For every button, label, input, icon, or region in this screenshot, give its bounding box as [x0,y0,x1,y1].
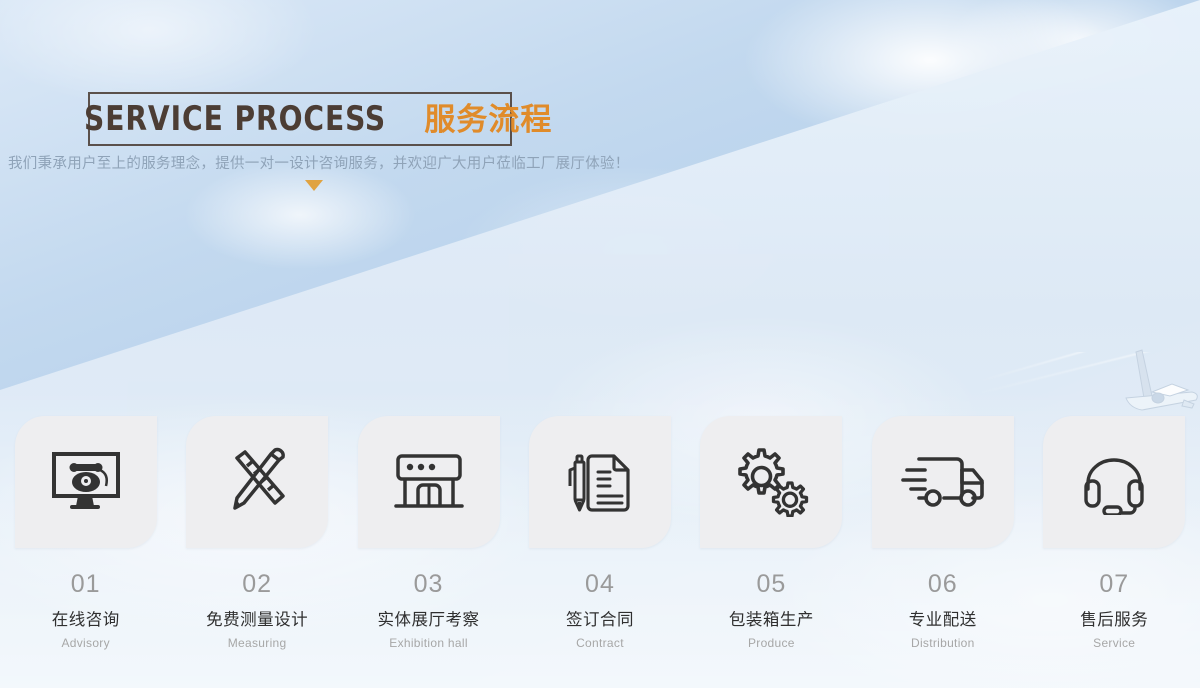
step-label-cn: 免费测量设计 [206,606,308,630]
step-item-06[interactable]: 06 专业配送 Distribution [857,416,1028,650]
step-icon-card[interactable] [700,416,842,548]
step-label-en: Service [1093,636,1135,650]
step-number: 05 [756,570,786,599]
page-title: SERVICE PROCESS服务流程 [84,102,524,136]
step-label-cn: 签订合同 [566,606,634,630]
step-label-cn: 包装箱生产 [729,606,814,630]
step-icon-card[interactable] [186,416,328,548]
page-title-cn: 服务流程 [424,102,552,137]
step-label-cn: 专业配送 [909,606,977,630]
monitor-phone-icon [48,450,124,514]
step-icon-card[interactable] [358,416,500,548]
step-item-05[interactable]: 05 包装箱生产 Produce [686,416,857,650]
pen-document-icon [564,448,636,516]
step-label-en: Produce [748,636,795,650]
step-label-en: Distribution [911,636,975,650]
step-item-07[interactable]: 07 售后服务 Service [1029,416,1200,650]
page-subtitle: 我们秉承用户至上的服务理念，提供一对一设计咨询服务，并欢迎广大用户莅临工厂展厅体… [8,152,728,173]
step-number: 03 [414,570,444,599]
step-label-en: Contract [576,636,624,650]
step-icon-card[interactable] [529,416,671,548]
ruler-pencil-icon [221,446,293,518]
step-label-en: Exhibition hall [389,636,468,650]
step-label-cn: 售后服务 [1080,606,1148,630]
storefront-icon [392,450,466,514]
delivery-truck-icon [901,453,985,511]
step-label-en: Advisory [61,636,109,650]
step-number: 02 [242,570,272,599]
step-number: 07 [1099,570,1129,599]
chevron-down-icon [305,180,323,191]
step-number: 04 [585,570,615,599]
step-item-03[interactable]: 03 实体展厅考察 Exhibition hall [343,416,514,650]
step-label-cn: 实体展厅考察 [378,606,480,630]
step-item-04[interactable]: 04 签订合同 Contract [514,416,685,650]
step-item-01[interactable]: 01 在线咨询 Advisory [0,416,171,650]
headset-icon [1078,449,1150,515]
step-label-en: Measuring [228,636,287,650]
step-number: 06 [928,570,958,599]
airplane-icon [1096,334,1200,424]
step-icon-card[interactable] [15,416,157,548]
step-icon-card[interactable] [872,416,1014,548]
heading-block: SERVICE PROCESS服务流程 我们秉承用户至上的服务理念，提供一对一设… [88,92,512,146]
gears-icon [732,447,810,517]
step-label-cn: 在线咨询 [52,606,120,630]
service-process-steps: 01 在线咨询 Advisory 02 免费测量设计 [0,416,1200,650]
page-title-en: SERVICE PROCESS [84,102,386,136]
step-icon-card[interactable] [1043,416,1185,548]
step-number: 01 [71,570,101,599]
step-item-02[interactable]: 02 免费测量设计 Measuring [171,416,342,650]
